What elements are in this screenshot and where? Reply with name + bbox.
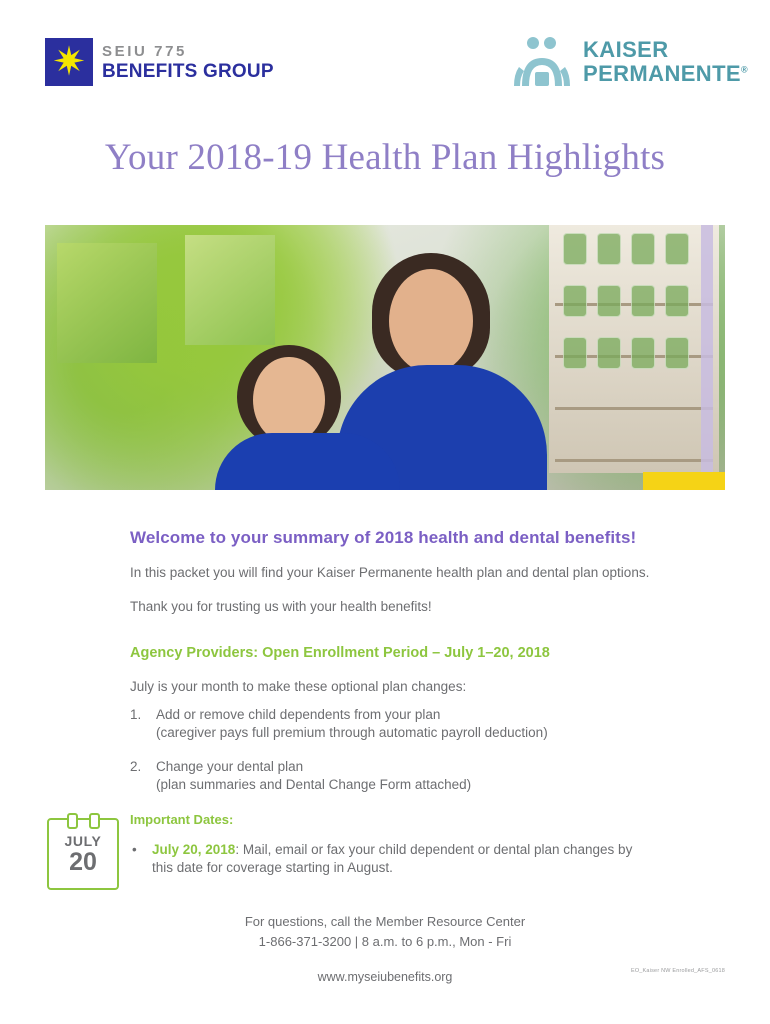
welcome-paragraph-2: Thank you for trusting us with your heal… [130,598,690,616]
plan-changes-intro: July is your month to make these optiona… [130,679,690,694]
footer-contact-line2: 1-866-371-3200 | 8 a.m. to 6 p.m., Mon -… [0,932,770,952]
agency-providers-heading: Agency Providers: Open Enrollment Period… [130,645,690,661]
kaiser-permanente-logo: KAISER PERMANENTE® [513,34,748,90]
registered-mark: ® [741,65,748,75]
page-footer: For questions, call the Member Resource … [0,912,770,988]
kaiser-logo-line1: KAISER [583,38,748,62]
calendar-rings [49,813,117,829]
seiu-logo-line1: SEIU 775 [102,44,274,59]
welcome-paragraph-1: In this packet you will find your Kaiser… [130,564,690,582]
list-item-line2: (caregiver pays full premium through aut… [156,725,548,740]
list-item: 1. Add or remove child dependents from y… [130,706,690,742]
welcome-heading: Welcome to your summary of 2018 health a… [130,528,690,548]
important-dates-block: Important Dates: • July 20, 2018: Mail, … [130,812,690,877]
list-item-line1: Change your dental plan [156,759,303,774]
hero-kitchen-shelf [549,225,719,473]
important-date-label: July 20, 2018 [152,842,235,857]
important-date-text: : Mail, email or fax your child dependen… [235,842,632,857]
kaiser-logo-line2-wrap: PERMANENTE® [583,62,748,86]
footer-contact-line1: For questions, call the Member Resource … [0,912,770,932]
list-item: 2. Change your dental plan (plan summari… [130,758,690,794]
seiu-starburst-icon: ✷ [45,38,93,86]
main-content: Welcome to your summary of 2018 health a… [130,528,690,810]
list-item-line2: (plan summaries and Dental Change Form a… [156,777,471,792]
hero-accent-yellow [643,472,725,490]
page-header: ✷ SEIU 775 BENEFITS GROUP KAISER [0,34,770,104]
hero-accent-lavender [701,225,713,472]
list-item-number: 2. [130,758,141,776]
calendar-icon: JULY 20 [47,818,119,890]
starburst-glyph: ✷ [52,42,86,82]
seiu-775-benefits-group-logo: ✷ SEIU 775 BENEFITS GROUP [45,38,274,86]
hero-window-right [185,235,275,345]
bullet-marker: • [132,841,137,859]
list-item-line1: Add or remove child dependents from your… [156,707,440,722]
important-dates-bullet: • July 20, 2018: Mail, email or fax your… [130,841,690,877]
calendar-day: 20 [49,849,117,875]
hero-window-left [57,243,157,363]
plan-changes-list: 1. Add or remove child dependents from y… [130,706,690,794]
important-dates-heading: Important Dates: [130,812,690,827]
hero-figure-girl [215,345,400,490]
calendar-month: JULY [49,833,117,849]
important-date-text-line2: this date for coverage starting in Augus… [152,860,393,875]
page-title: Your 2018-19 Health Plan Highlights [0,136,770,179]
list-item-number: 1. [130,706,141,724]
seiu-logo-line2: BENEFITS GROUP [102,62,274,81]
hero-photo-mother-and-daughter [45,225,725,490]
document-code: EO_Kaiser NW Enrolled_AFS_0618 [631,968,725,974]
kaiser-permanente-icon [513,34,571,90]
kaiser-logo-line2: PERMANENTE [583,61,741,86]
